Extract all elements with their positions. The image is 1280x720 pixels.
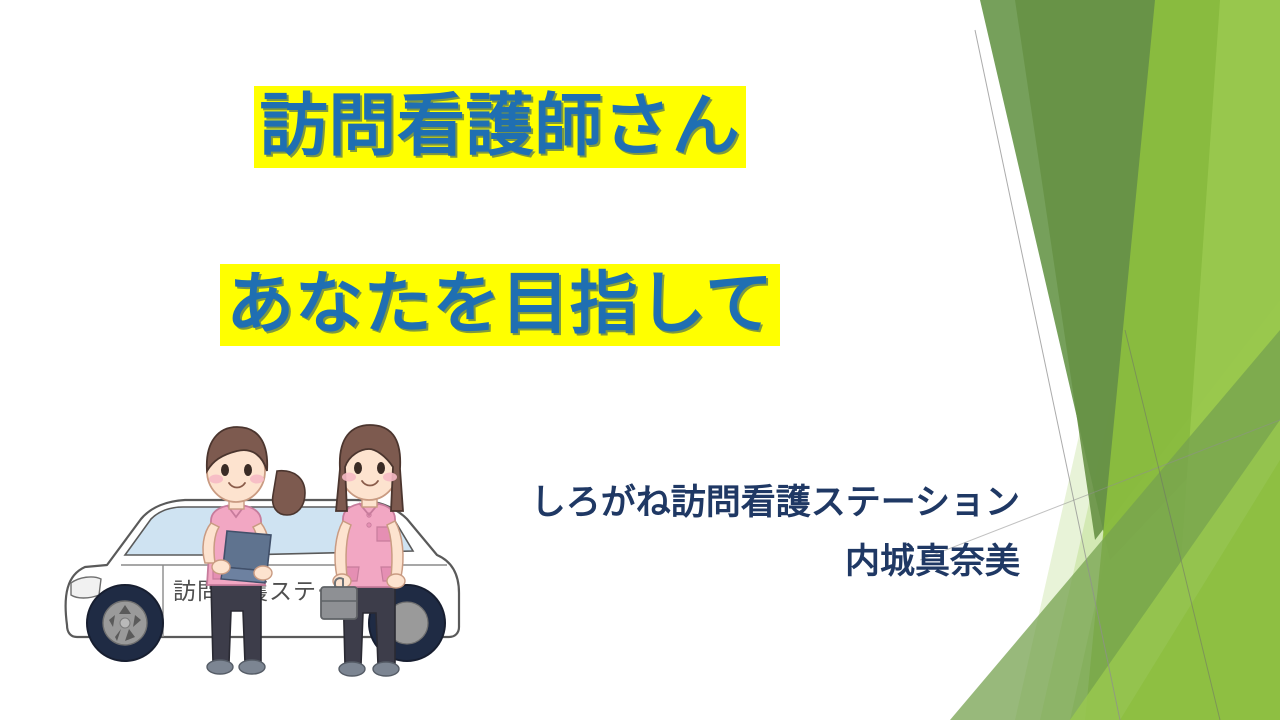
nurse-right-shoe-right xyxy=(373,662,399,676)
nurse-left-shoe-left xyxy=(207,660,233,674)
nurse-right-cheek-left xyxy=(342,473,356,482)
facet-shape-pale xyxy=(1070,0,1280,720)
facet-shape-dark-top xyxy=(980,0,1280,560)
nurse-left-cheek-right xyxy=(250,475,264,484)
title-line-2: あなたを目指して xyxy=(0,264,1000,346)
nurse-left-hand-right xyxy=(254,566,272,580)
presentation-slide: 訪問看護師さん あなたを目指して しろがね訪問看護ステーション 内城真奈美 xyxy=(0,0,1280,720)
nurse-left-eye-left xyxy=(221,464,229,476)
subtitle-organization: しろがね訪問看護ステーション xyxy=(430,482,1020,523)
nurse-right-button-2 xyxy=(367,523,371,527)
facet-shape-paler xyxy=(1040,0,1280,720)
nurse-right-hand-right xyxy=(387,574,405,588)
facet-shape-dark-top-2 xyxy=(1015,0,1280,540)
nurse-left-cheek-left xyxy=(209,475,223,484)
facet-shape-bright-bottom xyxy=(1120,460,1280,720)
illustration-visiting-nurses: 訪問看護ステーション xyxy=(55,415,485,700)
nurse-left-hand-left xyxy=(212,560,230,574)
slide-subtitle: しろがね訪問看護ステーション 内城真奈美 xyxy=(430,482,1020,583)
nurse-right-eye-left xyxy=(354,462,362,474)
nurse-right-eye-right xyxy=(377,462,385,474)
slide-title: 訪問看護師さん あなたを目指して xyxy=(0,86,1000,346)
facet-hairline-3 xyxy=(1125,330,1220,720)
nurse-left-ponytail xyxy=(273,471,305,515)
facet-shape-light-lower xyxy=(1070,420,1280,720)
title-line-2-text: あなたを目指して xyxy=(220,264,779,346)
title-line-1: 訪問看護師さん xyxy=(0,86,1000,168)
subtitle-presenter: 内城真奈美 xyxy=(430,541,1020,582)
nurse-left-eye-right xyxy=(244,464,252,476)
van-headlight xyxy=(71,577,101,598)
facet-shape-palest xyxy=(1015,0,1280,720)
van-front-wheel xyxy=(87,585,163,661)
nurse-right-cheek-right xyxy=(383,473,397,482)
nurse-right-shoe-left xyxy=(339,662,365,676)
title-line-1-text: 訪問看護師さん xyxy=(254,86,747,168)
nurse-left-shoe-right xyxy=(239,660,265,674)
facet-shape-light-right xyxy=(1170,0,1280,720)
facet-shape-bright-right xyxy=(1085,0,1280,720)
